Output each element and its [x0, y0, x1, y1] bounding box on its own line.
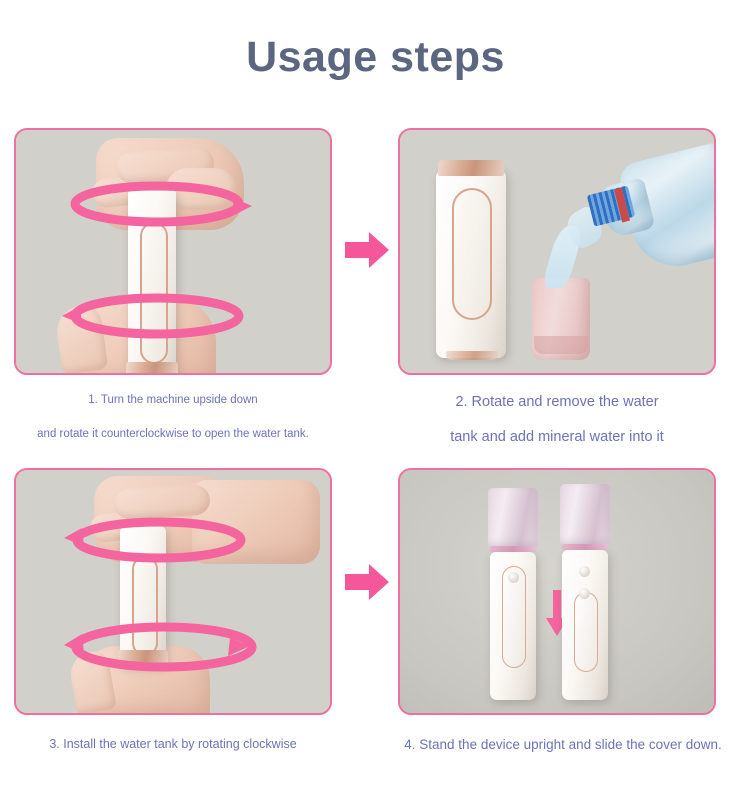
step-4-caption-line-1: 4. Stand the device upright and slide th… — [398, 735, 728, 755]
step-3-caption: 3. Install the water tank by rotating cl… — [14, 735, 332, 753]
step-2-photo-background — [400, 130, 714, 373]
step-2-caption-line-1: 2. Rotate and remove the water — [398, 392, 716, 413]
step-2-caption: 2. Rotate and remove the water tank and … — [398, 392, 716, 448]
step-3-photo — [14, 468, 332, 715]
right-device-button-top — [579, 566, 590, 577]
step-1-photo-background — [16, 130, 330, 373]
step-1-caption: 1. Turn the machine upside down and rota… — [14, 392, 332, 442]
device-bottom-ring — [446, 351, 498, 360]
left-device-button — [508, 572, 519, 583]
step-4-photo-background — [400, 470, 714, 713]
step-3-photo-background — [16, 470, 330, 713]
rotation-ring-upper-icon — [64, 514, 254, 566]
step-2-photo — [398, 128, 716, 375]
device-window — [452, 188, 492, 320]
arrow-step1-to-step2-icon — [345, 230, 389, 270]
step-1-photo — [14, 128, 332, 375]
step-1-caption-line-1: 1. Turn the machine upside down — [14, 392, 332, 409]
step-2-block — [398, 128, 716, 375]
left-device-cover — [488, 488, 538, 548]
device-top-cap — [438, 160, 504, 176]
step-1-caption-line-2: and rotate it counterclockwise to open t… — [14, 426, 332, 443]
rotation-ring-upper-icon — [62, 178, 252, 230]
rotation-ring-lower-icon — [64, 618, 264, 676]
step-3-caption-line-1: 3. Install the water tank by rotating cl… — [14, 735, 332, 753]
step-4-caption: 4. Stand the device upright and slide th… — [398, 735, 728, 755]
step-2-caption-line-2: tank and add mineral water into it — [398, 427, 716, 448]
rotation-ring-lower-icon — [62, 290, 252, 342]
usage-steps-grid: 1. Turn the machine upside down and rota… — [0, 0, 751, 789]
arrow-step3-to-step4-icon — [345, 562, 389, 602]
step-3-block — [14, 468, 332, 715]
step-4-photo — [398, 468, 716, 715]
right-device-button-bottom — [579, 588, 590, 599]
device-tank-cap — [126, 362, 178, 375]
water-tank-level — [534, 336, 588, 354]
right-device-cover — [560, 484, 610, 546]
step-1-block — [14, 128, 332, 375]
step-4-block — [398, 468, 716, 715]
right-device-slider — [574, 592, 598, 672]
